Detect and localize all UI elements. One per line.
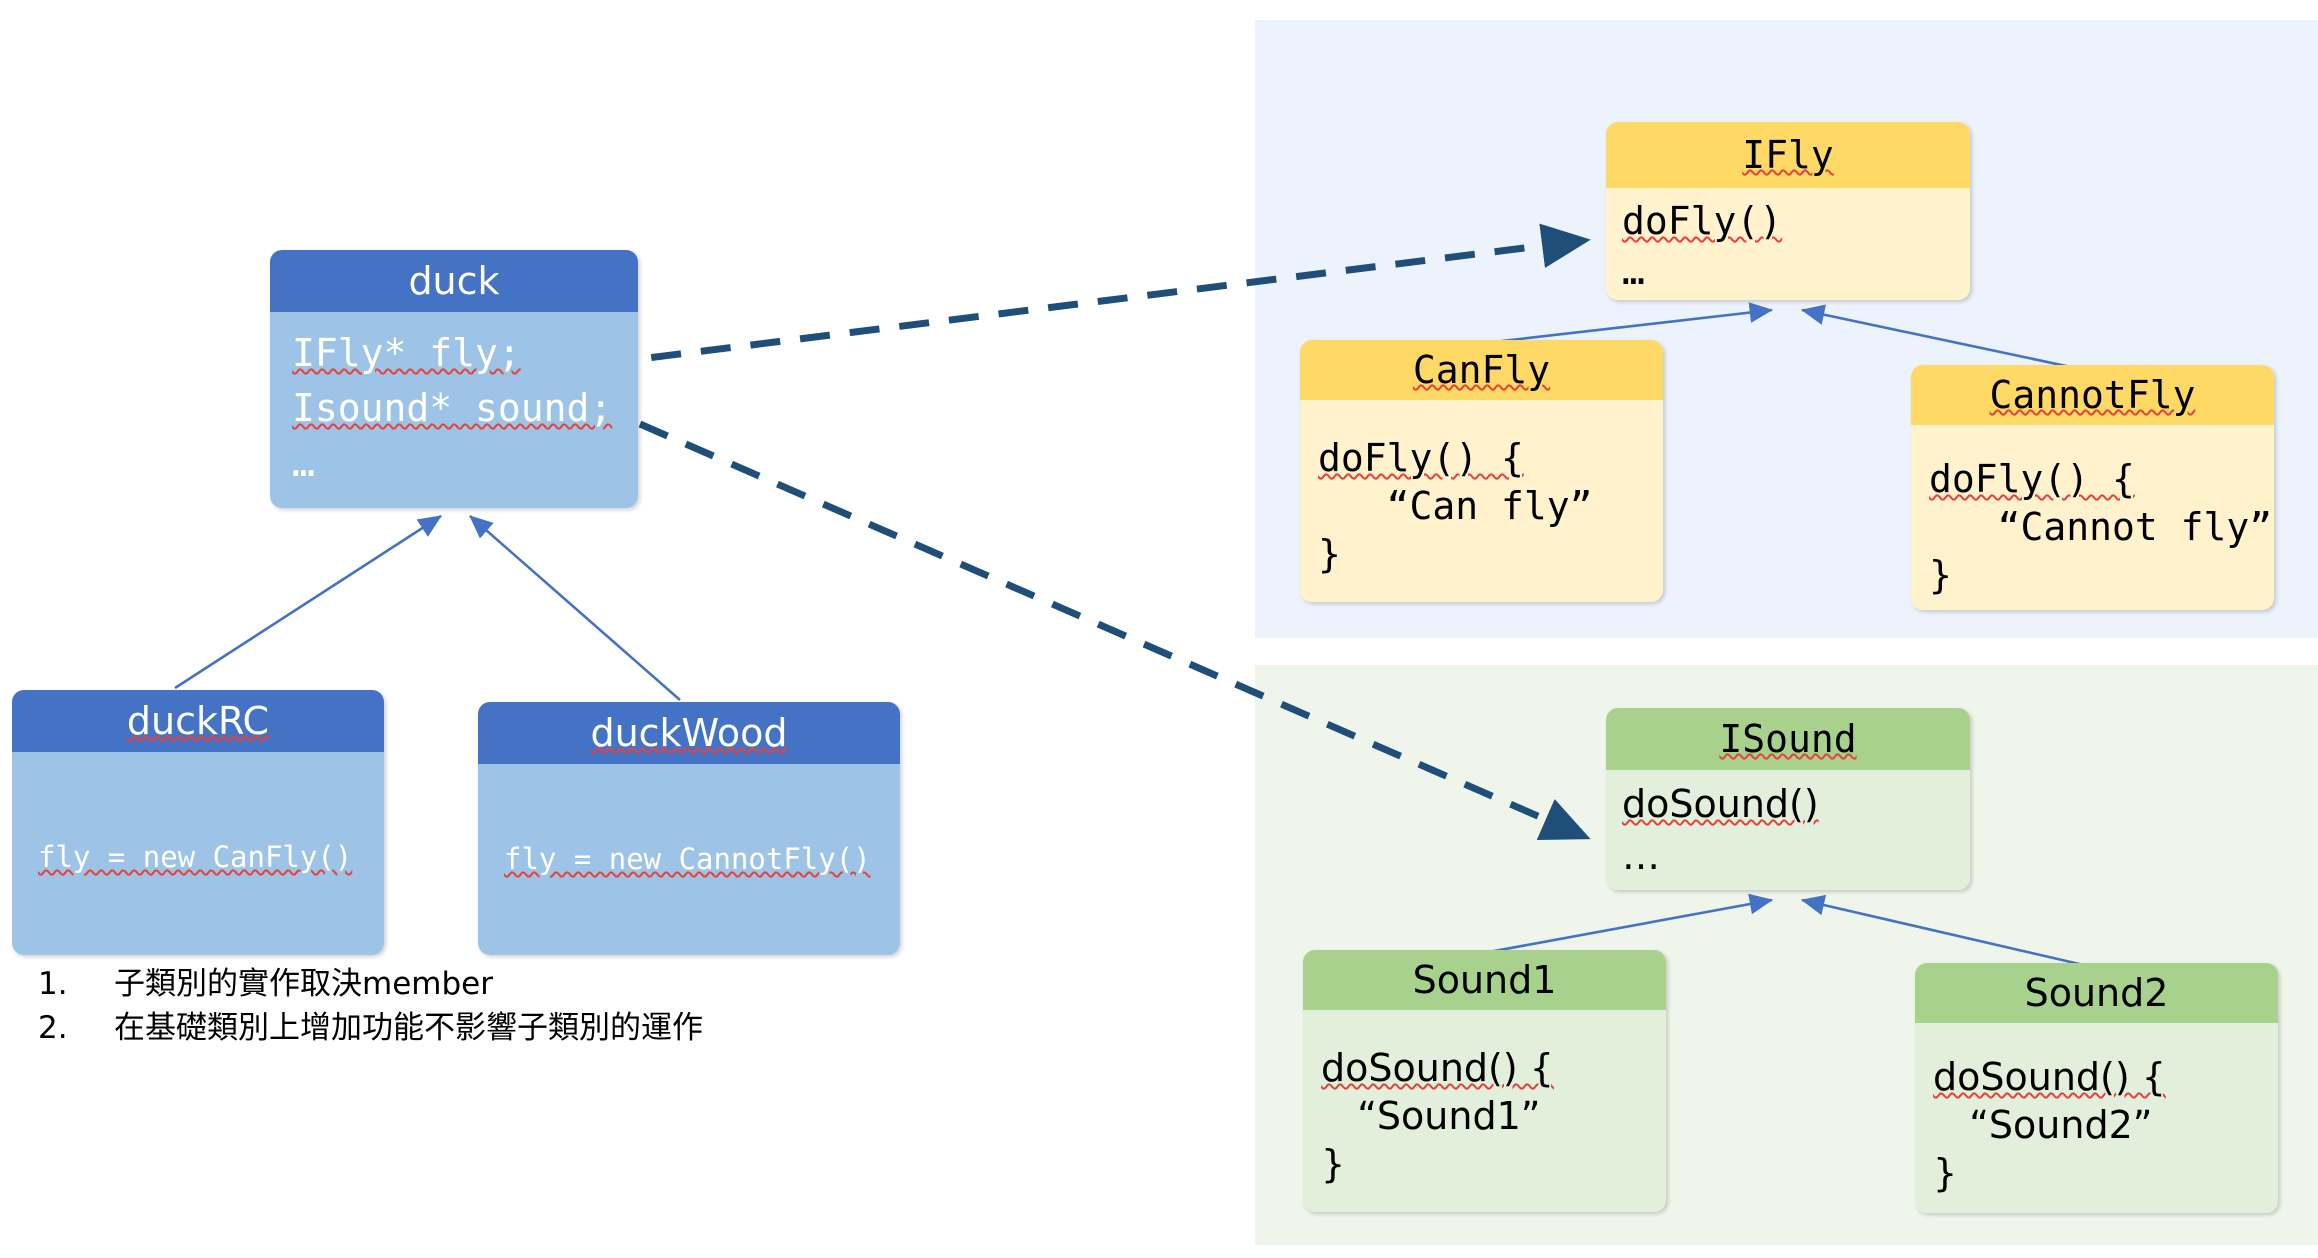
method-line-cannotfly-close: } — [1929, 553, 1952, 597]
member-line-duckrc-fly: fly = new CanFly() — [38, 840, 352, 874]
class-members-duck: IFly* fly; Isound* sound; … — [270, 312, 638, 508]
diagram-canvas: duck IFly* fly; Isound* sound; … duckRC … — [0, 0, 2318, 1258]
method-line-cannotfly-open: doFly() { — [1929, 457, 2135, 501]
list-item: 1. 子類別的實作取決member — [38, 962, 858, 1006]
class-title-cannotfly-text: CannotFly — [1990, 373, 2196, 417]
class-box-duckrc[interactable]: duckRC fly = new CanFly() — [12, 690, 384, 955]
note-number: 1. — [38, 962, 114, 1006]
class-title-duck: duck — [270, 250, 638, 312]
method-line-canfly-body: “Can fly” — [1318, 484, 1593, 528]
member-line-ellipsis: … — [292, 441, 315, 485]
member-line-duckwood-fly: fly = new CannotFly() — [504, 842, 871, 876]
method-line-sound1-open: doSound() { — [1321, 1046, 1554, 1090]
method-line-sound1-close: } — [1321, 1142, 1345, 1186]
class-box-duckwood[interactable]: duckWood fly = new CannotFly() — [478, 702, 900, 955]
method-line-sound2-open: doSound() { — [1933, 1055, 2166, 1099]
class-members-canfly: doFly() { “Can fly” } — [1300, 400, 1663, 602]
method-line-isound-ellipsis: … — [1622, 834, 1660, 878]
class-members-cannotfly: doFly() { “Cannot fly” } — [1911, 425, 2274, 610]
class-title-ifly: IFly — [1606, 122, 1970, 188]
class-title-duckwood: duckWood — [478, 702, 900, 764]
class-members-ifly: doFly() … — [1606, 188, 1970, 300]
method-line-sound1-body: “Sound1” — [1321, 1094, 1540, 1138]
class-members-duckwood: fly = new CannotFly() — [478, 764, 900, 955]
list-item: 2. 在基礎類別上增加功能不影響子類別的運作 — [38, 1006, 858, 1050]
method-line-sound2-close: } — [1933, 1151, 1957, 1195]
class-title-sound2: Sound2 — [1915, 963, 2278, 1023]
class-box-canfly[interactable]: CanFly doFly() { “Can fly” } — [1300, 340, 1663, 602]
class-title-ifly-text: IFly — [1742, 133, 1834, 177]
class-box-ifly[interactable]: IFly doFly() … — [1606, 122, 1970, 300]
method-line-canfly-close: } — [1318, 532, 1341, 576]
note-number: 2. — [38, 1006, 114, 1050]
class-box-duck[interactable]: duck IFly* fly; Isound* sound; … — [270, 250, 638, 508]
class-members-sound2: doSound() { “Sound2” } — [1915, 1023, 2278, 1213]
method-line-sound2-body: “Sound2” — [1933, 1103, 2152, 1147]
class-title-duckrc-text: duckRC — [127, 699, 269, 743]
method-line-dosound: doSound() — [1622, 782, 1819, 826]
class-box-cannotfly[interactable]: CannotFly doFly() { “Cannot fly” } — [1911, 365, 2274, 610]
class-box-sound1[interactable]: Sound1 doSound() { “Sound1” } — [1303, 950, 1666, 1212]
duckrc-inherits-duck — [175, 516, 441, 688]
class-title-duckrc: duckRC — [12, 690, 384, 752]
class-box-isound[interactable]: ISound doSound() … — [1606, 708, 1970, 890]
class-title-sound1: Sound1 — [1303, 950, 1666, 1010]
duckwood-inherits-duck — [470, 516, 680, 700]
method-line-cannotfly-body: “Cannot fly” — [1929, 505, 2272, 549]
class-box-sound2[interactable]: Sound2 doSound() { “Sound2” } — [1915, 963, 2278, 1213]
class-members-duckrc: fly = new CanFly() — [12, 752, 384, 955]
note-text: 在基礎類別上增加功能不影響子類別的運作 — [114, 1006, 858, 1050]
class-title-isound-text: ISound — [1719, 717, 1856, 761]
method-line-dofly: doFly() — [1622, 199, 1782, 243]
class-title-canfly: CanFly — [1300, 340, 1663, 400]
class-title-canfly-text: CanFly — [1413, 348, 1550, 392]
class-title-cannotfly: CannotFly — [1911, 365, 2274, 425]
method-line-canfly-open: doFly() { — [1318, 436, 1524, 480]
notes-list: 1. 子類別的實作取決member 2. 在基礎類別上增加功能不影響子類別的運作 — [38, 962, 858, 1050]
note-text: 子類別的實作取決member — [114, 962, 858, 1006]
class-title-isound: ISound — [1606, 708, 1970, 770]
class-members-isound: doSound() … — [1606, 770, 1970, 890]
member-line-isound-sound: Isound* sound; — [292, 386, 612, 430]
method-line-ellipsis: … — [1622, 249, 1645, 293]
class-members-sound1: doSound() { “Sound1” } — [1303, 1010, 1666, 1212]
member-line-ifly-fly: IFly* fly; — [292, 331, 521, 375]
class-title-duckwood-text: duckWood — [590, 711, 787, 755]
